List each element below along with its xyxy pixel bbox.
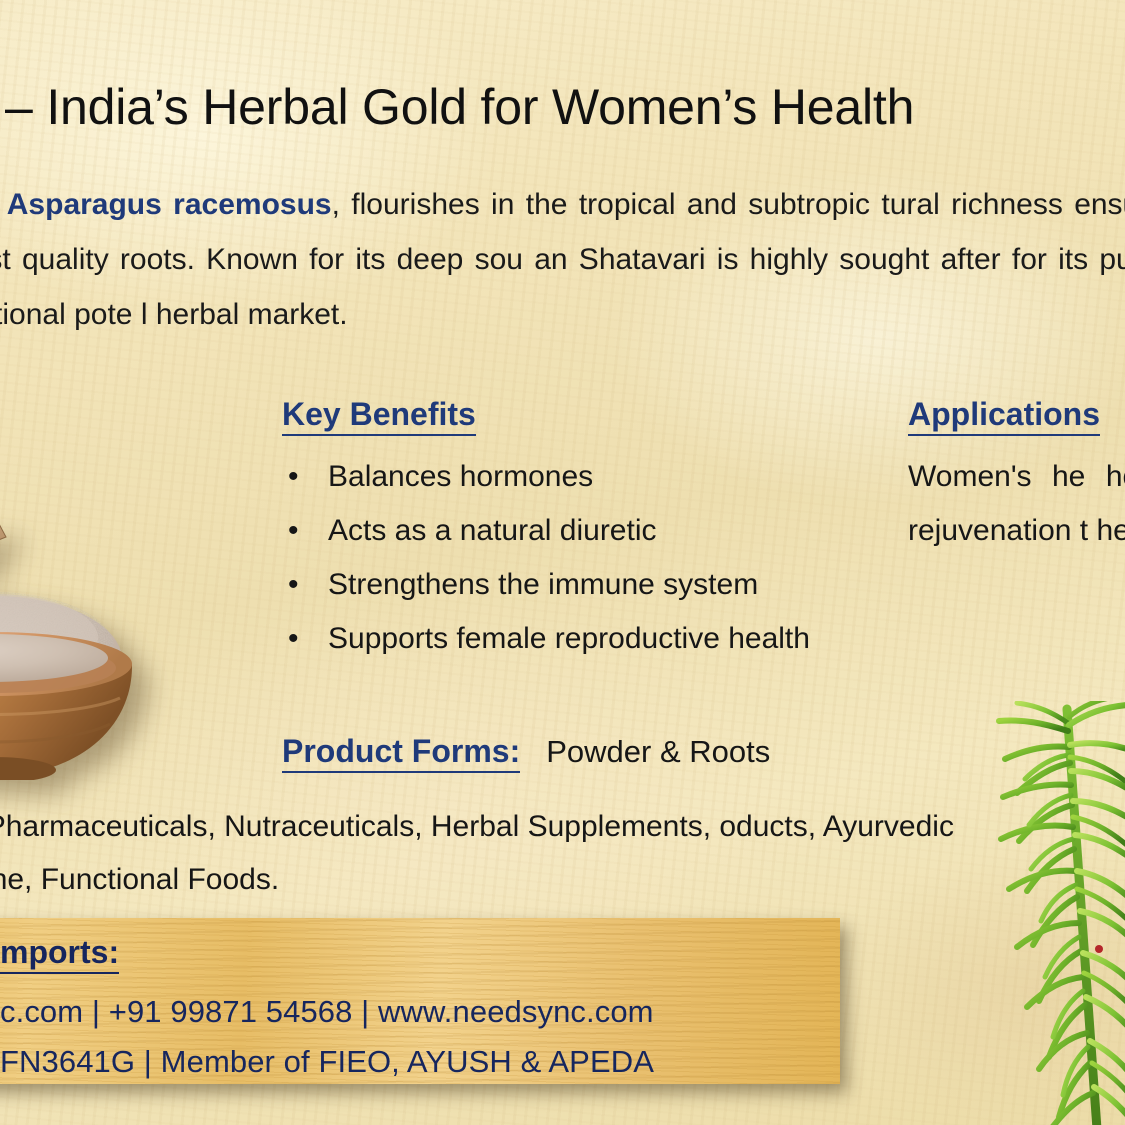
intro-line-1-after: , flourishes in the tropical and subtrop… xyxy=(332,188,870,221)
intro-line-1-before: wn as xyxy=(0,188,7,221)
benefit-label: Supports female reproductive health xyxy=(328,622,810,655)
benefit-label: Strengthens the immune system xyxy=(328,568,758,601)
contact-heading: mports: xyxy=(0,934,119,974)
industries-row: tries: Pharmaceuticals, Nutraceuticals, … xyxy=(0,800,984,906)
page-title: ri – India’s Herbal Gold for Women’s Hea… xyxy=(0,78,1125,135)
intro-line-4: l herbal market. xyxy=(141,298,348,331)
product-forms-value: Powder & Roots xyxy=(546,734,770,769)
scientific-name: Asparagus racemosus xyxy=(7,188,332,221)
bullet-icon: • xyxy=(288,450,299,504)
industries-text: Pharmaceuticals, Nutraceuticals, Herbal … xyxy=(0,810,954,896)
shatavari-powder-bowl-photo xyxy=(0,398,212,780)
key-benefits-heading: Key Benefits xyxy=(282,396,476,436)
applications-text: Women's he hormonal l rejuvenation t her… xyxy=(908,450,1125,558)
shatavari-green-plant-photo xyxy=(947,701,1125,1125)
list-item: • Supports female reproductive health xyxy=(282,612,882,666)
contact-box: mports: c.com | +91 99871 54568 | www.ne… xyxy=(0,918,840,1084)
contact-line-iec-memberships: FN3641G | Member of FIEO, AYUSH & APEDA xyxy=(0,1044,654,1080)
list-item: • Strengthens the immune system xyxy=(282,558,882,612)
applications-section: Applications Women's he hormonal l rejuv… xyxy=(908,396,1125,558)
bullet-icon: • xyxy=(288,612,299,666)
bullet-icon: • xyxy=(288,558,299,612)
list-item: • Balances hormones xyxy=(282,450,882,504)
flyer-page: ri – India’s Herbal Gold for Women’s Hea… xyxy=(0,0,1125,1125)
list-item: • Acts as a natural diuretic xyxy=(282,504,882,558)
key-benefits-section: Key Benefits • Balances hormones • Acts … xyxy=(282,396,882,666)
benefit-label: Balances hormones xyxy=(328,460,593,493)
key-benefits-list: • Balances hormones • Acts as a natural … xyxy=(282,450,882,666)
contact-line-email-phone-web[interactable]: c.com | +91 99871 54568 | www.needsync.c… xyxy=(0,994,654,1030)
intro-paragraph: wn as Asparagus racemosus, flourishes in… xyxy=(0,178,1125,343)
plant-berry xyxy=(1095,945,1103,953)
bullet-icon: • xyxy=(288,504,299,558)
product-forms-row: Product Forms:Powder & Roots xyxy=(282,733,770,773)
product-forms-label: Product Forms: xyxy=(282,733,520,773)
applications-heading: Applications xyxy=(908,396,1100,436)
page-title-rest: – India’s Herbal Gold for Women’s Health xyxy=(0,79,914,135)
benefit-label: Acts as a natural diuretic xyxy=(328,514,657,547)
